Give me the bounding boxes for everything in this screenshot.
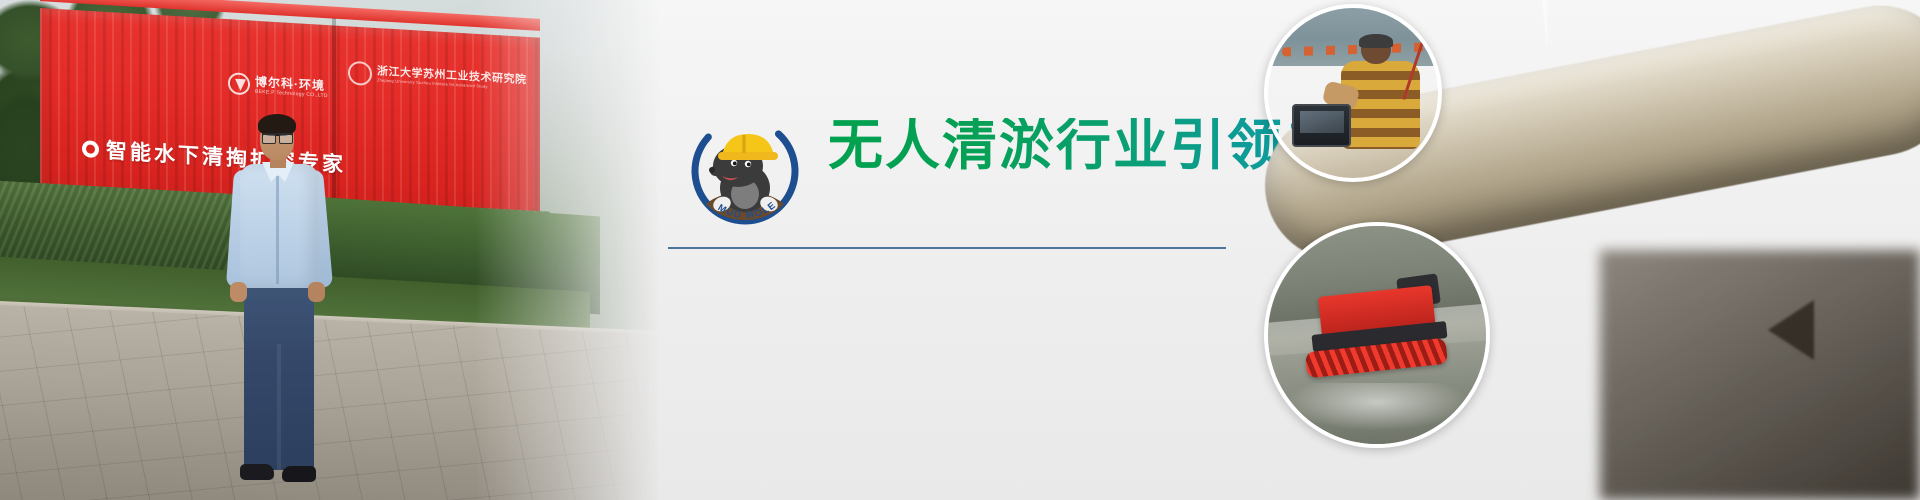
hero-banner: 博尔科·环境 BEKE.P Technology CO.,LTD 浙江大学苏州工… [0, 0, 1920, 500]
operator-cap [1359, 34, 1393, 48]
operator-console-photo [1264, 4, 1442, 182]
figure-right-hand [308, 282, 325, 302]
boerke-mark-icon [228, 72, 250, 95]
remote-control-console [1292, 104, 1351, 147]
dredging-robot [1312, 291, 1447, 378]
zju-mark-icon [348, 61, 372, 86]
dredging-robot-photo [1264, 222, 1490, 448]
figure-left-shoe [240, 464, 274, 480]
left-photo-engineer-container: 博尔科·环境 BEKE.P Technology CO.,LTD 浙江大学苏州工… [0, 0, 660, 500]
mud-mole-logo: MUD MOLE [682, 108, 808, 234]
console-photo-operator [1339, 35, 1438, 178]
figure-right-shoe [282, 466, 316, 482]
robot-water-splash [1285, 383, 1468, 431]
figure-trousers [244, 282, 314, 470]
logo-mole-pupil-right [747, 163, 751, 167]
right-photo-group [1240, 0, 1920, 500]
console-screen [1300, 111, 1344, 133]
center-content: MUD MOLE 无人清淤行业引领者 [660, 0, 1280, 500]
figure-left-hand [230, 282, 247, 302]
figure-glasses-icon [262, 133, 293, 141]
logo-hard-hat-brim [718, 152, 778, 160]
container-logo-boerke: 博尔科·环境 BEKE.P Technology CO.,LTD [228, 71, 324, 111]
title-divider [668, 247, 1226, 249]
pipe-direction-arrow-icon [1768, 300, 1814, 360]
container-logo-zju: 浙江大学苏州工业技术研究院 Zhejiang University Suzhou… [348, 61, 460, 102]
logo-mole-nose [709, 167, 715, 173]
slogan-badge-icon [82, 140, 99, 158]
logo-mole-pupil-left [733, 162, 737, 166]
pipe-shadow-area [1600, 250, 1920, 500]
figure-shirt-placket [276, 176, 279, 284]
mud-mole-logo-svg: MUD MOLE [682, 108, 808, 234]
figure-shirt [240, 164, 318, 288]
engineer-figure [218, 118, 340, 500]
pipe-handrail [1541, 0, 1920, 181]
